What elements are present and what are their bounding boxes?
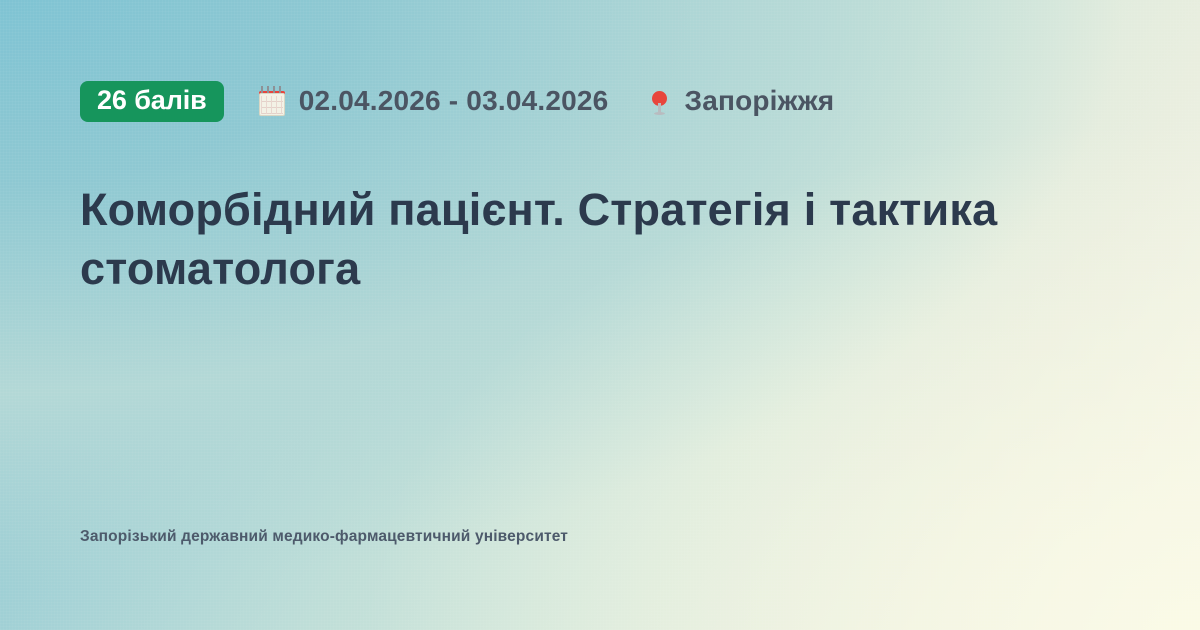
event-location-text: Запоріжжя (684, 85, 834, 117)
event-date-range: 02.04.2026 - 03.04.2026 (257, 85, 609, 117)
calendar-icon (257, 85, 287, 117)
event-banner-card: 26 балів 02.04.2026 - 03.04.2026 Запоріж… (0, 0, 1200, 630)
event-title: Коморбідний пацієнт. Стратегія і тактика… (80, 180, 1040, 299)
organizer-name: Запорізький державний медико-фармацевтич… (80, 528, 568, 546)
card-content: 26 балів 02.04.2026 - 03.04.2026 Запоріж… (0, 0, 1200, 630)
credits-badge: 26 балів (80, 81, 224, 122)
map-pin-icon (650, 85, 670, 117)
event-date-text: 02.04.2026 - 03.04.2026 (299, 85, 609, 117)
event-location: Запоріжжя (650, 85, 834, 117)
event-meta-row: 26 балів 02.04.2026 - 03.04.2026 Запоріж… (80, 78, 834, 124)
